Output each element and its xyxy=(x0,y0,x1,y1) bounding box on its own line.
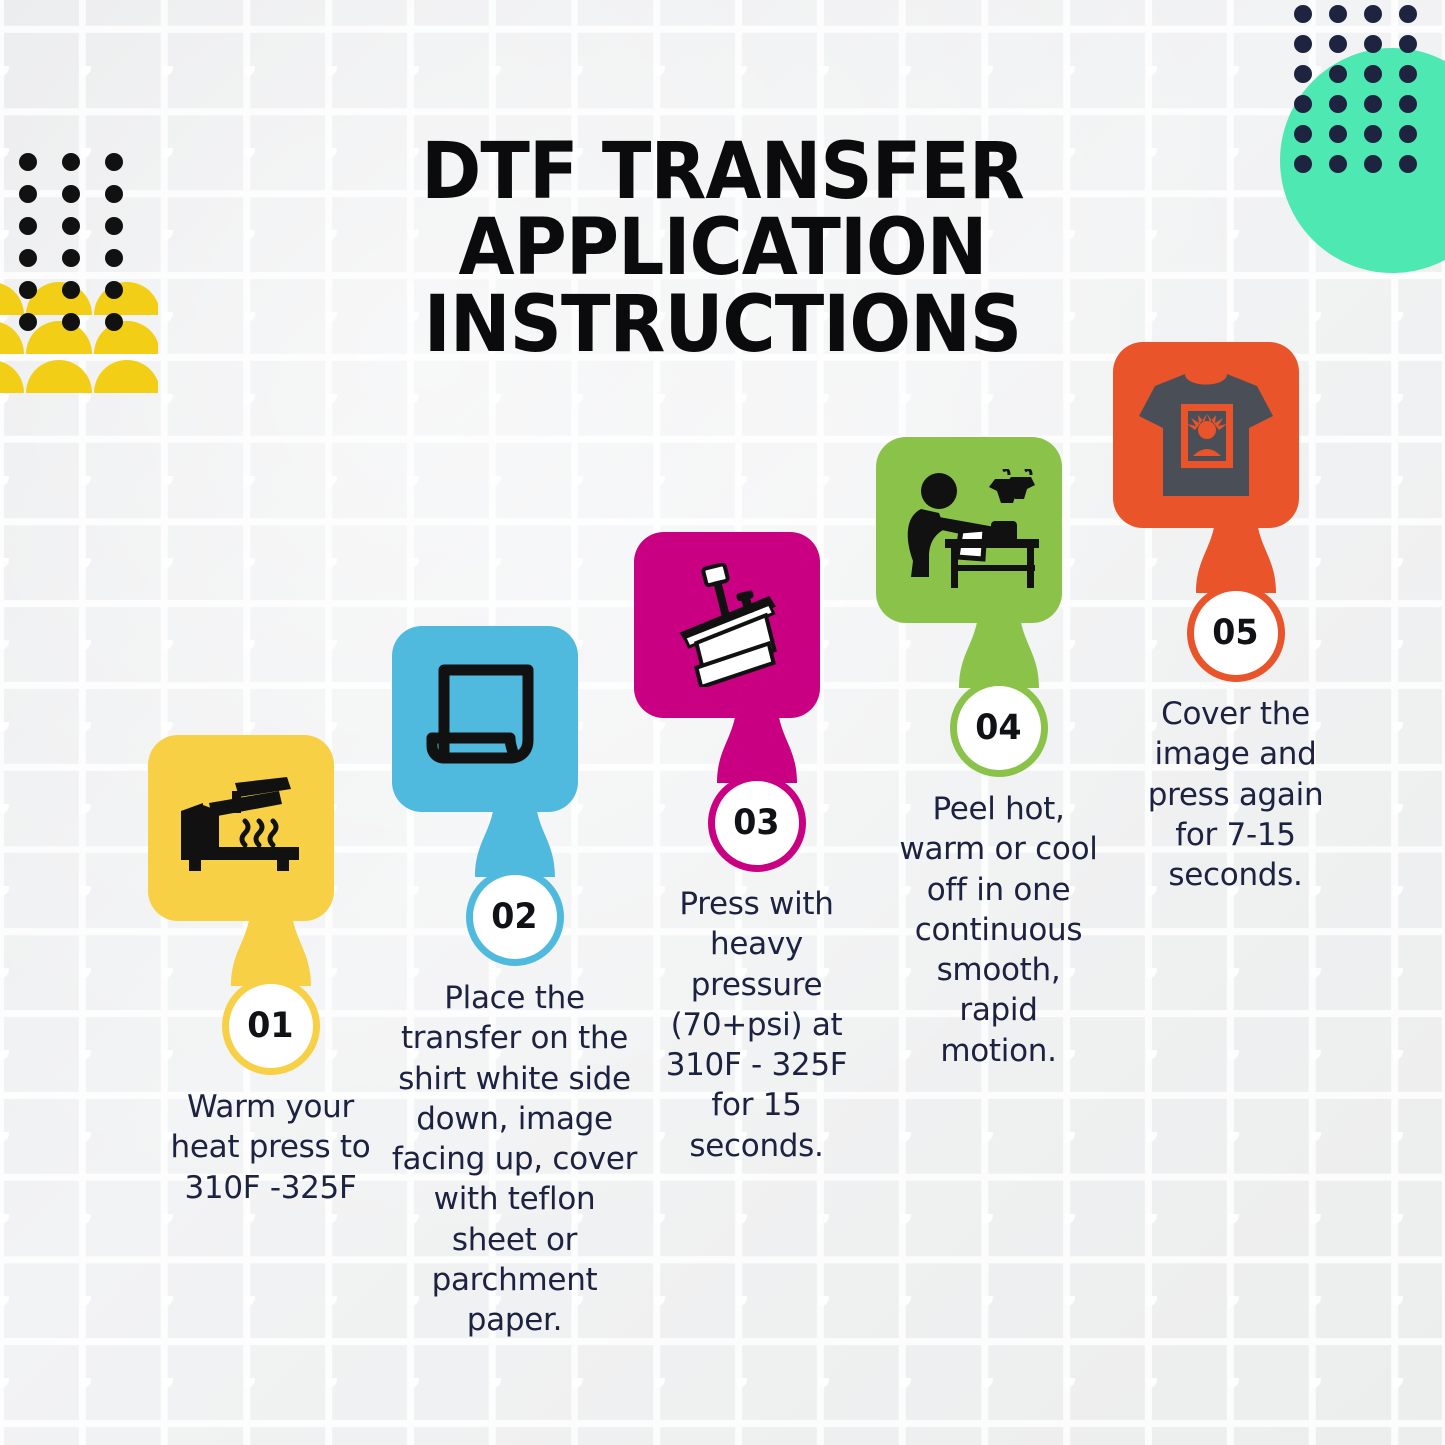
step-03-caption: Press with heavy pressure (70+psi) at 31… xyxy=(649,884,864,1166)
step-03-icon-card[interactable] xyxy=(634,532,820,718)
step-05: 05 Cover the image and press again for 7… xyxy=(1113,342,1358,528)
step-02: 02 Place the transfer on the shirt white… xyxy=(392,626,637,812)
step-01-number: 01 xyxy=(247,1006,293,1046)
step-04-caption: Peel hot, warm or cool off in one contin… xyxy=(899,789,1099,1071)
step-04: 04 Peel hot, warm or cool off in one con… xyxy=(876,437,1121,623)
infographic-canvas: DTF TRANSFER APPLICATION INSTRUCTIONS xyxy=(0,0,1445,1445)
step-05-icon-card[interactable] xyxy=(1113,342,1299,528)
step-03-number-badge: 03 xyxy=(708,774,806,872)
step-05-number-badge: 05 xyxy=(1187,584,1285,682)
step-01-caption: Warm your heat press to 310F -325F xyxy=(163,1087,378,1208)
heat-press-open-icon xyxy=(175,775,307,881)
step-04-number: 04 xyxy=(975,708,1021,748)
step-02-caption: Place the transfer on the shirt white si… xyxy=(390,978,640,1341)
step-02-icon-card[interactable] xyxy=(392,626,578,812)
printed-tshirt-icon xyxy=(1133,368,1279,502)
step-02-number-badge: 02 xyxy=(466,868,564,966)
step-05-caption: Cover the image and press again for 7-15… xyxy=(1136,694,1336,895)
step-03: 03 Press with heavy pressure (70+psi) at… xyxy=(634,532,879,718)
step-01: 01 Warm your heat press to 310F -325F xyxy=(148,735,393,921)
step-01-number-badge: 01 xyxy=(222,977,320,1075)
step-04-number-badge: 04 xyxy=(950,679,1048,777)
step-04-icon-card[interactable] xyxy=(876,437,1062,623)
step-05-number: 05 xyxy=(1212,613,1258,653)
person-peeling-transfer-icon xyxy=(899,469,1039,591)
step-02-number: 02 xyxy=(491,897,537,937)
step-01-icon-card[interactable] xyxy=(148,735,334,921)
transfer-sheet-icon xyxy=(426,662,544,776)
step-03-number: 03 xyxy=(733,803,779,843)
heat-press-machine-icon xyxy=(663,563,791,687)
page-title: DTF TRANSFER APPLICATION INSTRUCTIONS xyxy=(51,134,1395,363)
